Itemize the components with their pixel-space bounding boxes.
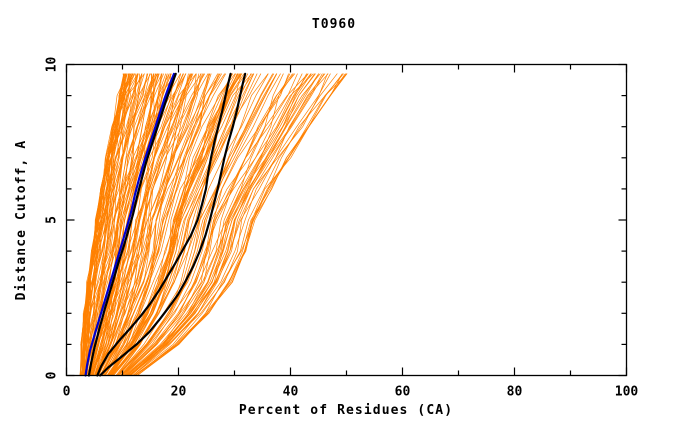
chart-container: T0960 0204060801000510 Percent of Residu… [0, 0, 680, 440]
distance-cutoff-plot: T0960 0204060801000510 Percent of Residu… [0, 0, 680, 440]
x-tick-label: 40 [283, 385, 299, 400]
x-tick-label: 80 [507, 385, 523, 400]
x-tick-label: 100 [615, 385, 639, 400]
x-tick-label: 0 [63, 385, 71, 400]
y-tick-label: 0 [45, 371, 60, 379]
y-axis-title: Distance Cutoff, A [14, 140, 29, 301]
x-tick-label: 20 [171, 385, 187, 400]
chart-title: T0960 [312, 17, 356, 32]
y-tick-label: 10 [45, 57, 60, 73]
x-axis-title: Percent of Residues (CA) [239, 403, 453, 418]
y-tick-label: 5 [45, 216, 60, 224]
x-tick-label: 60 [395, 385, 411, 400]
